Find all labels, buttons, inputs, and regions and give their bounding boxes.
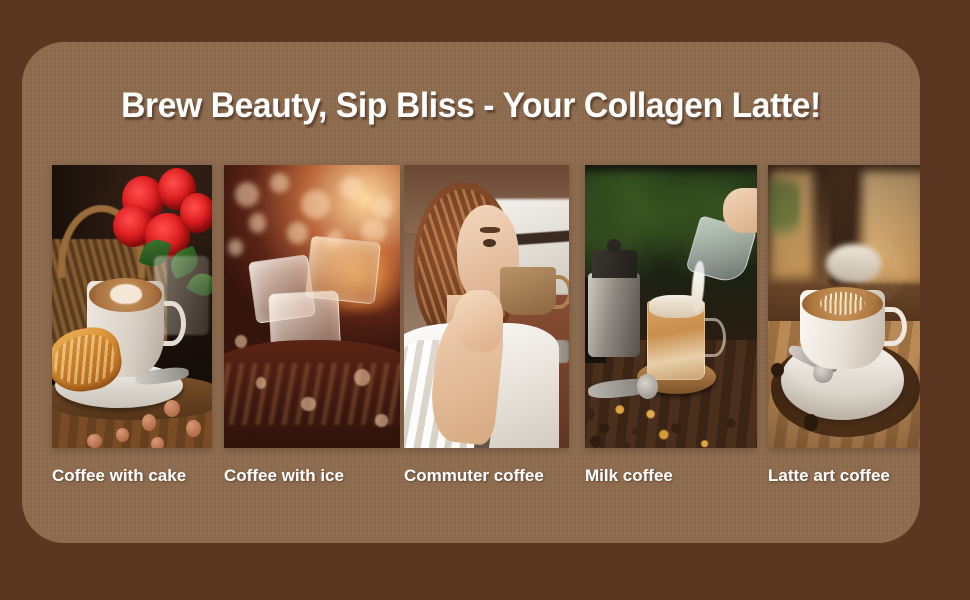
gallery-caption: Milk coffee	[585, 466, 757, 486]
photo-commuter-coffee	[404, 165, 569, 448]
bubble-shape	[301, 397, 315, 411]
bokeh-shape	[287, 222, 308, 245]
vignette-overlay	[768, 165, 920, 448]
rose-shape	[180, 193, 212, 233]
nut-shape	[87, 434, 101, 448]
glass-handle-shape	[702, 318, 726, 358]
moka-pot-knob-shape	[607, 239, 621, 253]
content-panel: Brew Beauty, Sip Bliss - Your Collagen L…	[22, 42, 920, 543]
moka-pot-lid-shape	[592, 250, 637, 278]
nut-shape	[186, 420, 200, 437]
bokeh-shape	[249, 213, 267, 233]
nut-shape	[142, 414, 156, 431]
bokeh-shape	[301, 190, 329, 218]
hand-shape	[723, 188, 757, 233]
coffee-beans-shape	[654, 408, 757, 448]
gallery-item-milk-coffee[interactable]: Milk coffee	[585, 165, 757, 486]
gallery-item-coffee-with-cake[interactable]: Coffee with cake	[52, 165, 212, 486]
page-title: Brew Beauty, Sip Bliss - Your Collagen L…	[40, 86, 902, 126]
nut-shape	[151, 437, 164, 448]
photo-gallery: Coffee with cake	[52, 165, 920, 505]
eyebrow-shape	[480, 227, 500, 233]
bokeh-shape	[372, 196, 393, 219]
photo-coffee-with-cake	[52, 165, 212, 448]
gallery-caption: Coffee with ice	[224, 466, 400, 486]
photo-latte-art-coffee	[768, 165, 920, 448]
gallery-item-coffee-with-ice[interactable]: Coffee with ice	[224, 165, 400, 486]
gallery-caption: Latte art coffee	[768, 466, 920, 486]
photo-coffee-with-ice	[224, 165, 400, 448]
latte-art-shape	[110, 284, 142, 304]
gallery-caption: Coffee with cake	[52, 466, 212, 486]
bubble-shape	[354, 369, 370, 386]
bokeh-shape	[228, 239, 244, 256]
bubble-shape	[375, 414, 387, 427]
bokeh-shape	[340, 176, 363, 199]
bubble-shape	[256, 377, 267, 388]
photo-milk-coffee	[585, 165, 757, 448]
gallery-caption: Commuter coffee	[404, 466, 569, 486]
bokeh-shape	[270, 173, 289, 193]
moka-pot-shape	[588, 273, 640, 358]
liquid-swirl-shape	[224, 363, 400, 425]
bubble-shape	[235, 335, 247, 348]
mug-shape	[500, 267, 556, 315]
gallery-item-commuter-coffee[interactable]: Commuter coffee	[404, 165, 569, 486]
bokeh-shape	[235, 182, 260, 207]
nut-shape	[116, 428, 129, 442]
gallery-item-latte-art-coffee[interactable]: Latte art coffee	[768, 165, 920, 486]
nut-shape	[164, 400, 180, 417]
banner-canvas: Brew Beauty, Sip Bliss - Your Collagen L…	[0, 0, 970, 600]
hand-shape	[454, 290, 504, 352]
